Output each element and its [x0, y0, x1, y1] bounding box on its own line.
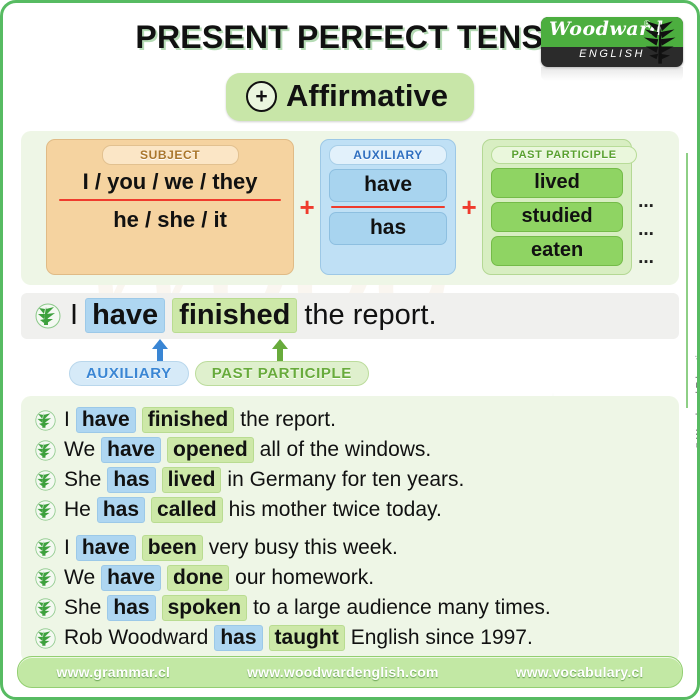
- structure-column-auxiliary: AUXILIARY have has: [320, 139, 456, 275]
- tag-auxiliary: AUXILIARY: [69, 361, 189, 386]
- sentence-auxiliary: has: [107, 467, 155, 493]
- example-sentence-band: I have finished the report.: [21, 293, 679, 339]
- woodward-logo: Woodward ® ENGLISH: [541, 17, 683, 67]
- list-item: She has lived in Germany for ten years.: [35, 465, 665, 495]
- sentence-subject: We: [64, 438, 95, 462]
- operator-plus-subject-aux: +: [294, 139, 320, 275]
- sentence-remainder: all of the windows.: [260, 438, 432, 462]
- fern-check-icon: [35, 303, 61, 329]
- plus-circle-icon: +: [246, 81, 277, 112]
- sentence-participle: taught: [269, 625, 345, 651]
- structure-column-subject: SUBJECT I / you / we / they he / she / i…: [46, 139, 294, 275]
- subject-heading: SUBJECT: [102, 145, 239, 165]
- fern-check-icon: [35, 628, 56, 649]
- sentence-text: We have done our homework.: [64, 565, 374, 591]
- sentence-text: I have finished the report.: [64, 407, 336, 433]
- subject-row-plural: I / you / we / they: [55, 165, 285, 198]
- callout-tags: AUXILIARY PAST PARTICIPLE: [21, 361, 679, 386]
- footer-link-woodwardenglish[interactable]: www.woodwardenglish.com: [247, 664, 439, 680]
- side-rule-divider: [686, 153, 688, 408]
- participle-chip-eaten: eaten: [491, 236, 623, 266]
- fern-check-icon: [35, 440, 56, 461]
- sentence-participle: spoken: [162, 595, 248, 621]
- list-item: She has spoken to a large audience many …: [35, 593, 665, 623]
- callout-arrows: [21, 339, 679, 361]
- auxiliary-have-chip: have: [329, 169, 447, 202]
- ellipsis-2: ...: [638, 220, 654, 239]
- fern-check-icon: [35, 568, 56, 589]
- list-item: I have been very busy this week.: [35, 533, 665, 563]
- footer-bar: www.grammar.cl www.woodwardenglish.com w…: [17, 656, 683, 688]
- list-item: I have finished the report.: [35, 405, 665, 435]
- sentence-remainder: in Germany for ten years.: [227, 468, 464, 492]
- sentence-remainder: our homework.: [235, 566, 374, 590]
- participle-chip-lived: lived: [491, 168, 623, 198]
- subject-divider: [59, 199, 281, 201]
- sentence-subject: Rob Woodward: [64, 626, 208, 650]
- sentence-auxiliary: have: [101, 437, 161, 463]
- sentence-remainder: the report.: [240, 408, 336, 432]
- list-item: Rob Woodward has taught English since 19…: [35, 623, 665, 653]
- sentence-subject: He: [64, 498, 91, 522]
- auxiliary-has-chip: has: [329, 212, 447, 245]
- sentence-text: Rob Woodward has taught English since 19…: [64, 625, 533, 651]
- sentence-subject: She: [64, 468, 101, 492]
- example-remainder: the report.: [304, 299, 436, 332]
- sentence-auxiliary: have: [101, 565, 161, 591]
- auxiliary-divider: [331, 206, 445, 208]
- past-participle-heading: PAST PARTICIPLE: [491, 146, 637, 164]
- sentence-auxiliary: has: [214, 625, 262, 651]
- sentence-remainder: his mother twice today.: [229, 498, 442, 522]
- subject-row-singular: he / she / it: [55, 203, 285, 236]
- infographic-poster: Woodward PRESENT PERFECT TENSE Woodward …: [0, 0, 700, 700]
- footer-link-vocabulary[interactable]: www.vocabulary.cl: [516, 664, 644, 680]
- fern-check-icon: [35, 410, 56, 431]
- sentence-auxiliary: have: [76, 407, 136, 433]
- sentence-text: She has lived in Germany for ten years.: [64, 467, 464, 493]
- arrow-up-participle-icon: [271, 339, 289, 361]
- fern-logo-icon: [643, 19, 679, 65]
- sentence-participle: opened: [167, 437, 254, 463]
- list-item: We have opened all of the windows.: [35, 435, 665, 465]
- sentence-participle: done: [167, 565, 229, 591]
- sentence-auxiliary: have: [76, 535, 136, 561]
- example-participle: finished: [172, 298, 297, 333]
- list-group-separator: [35, 525, 665, 533]
- ellipsis-3: ...: [638, 248, 654, 267]
- sentence-subject: We: [64, 566, 95, 590]
- structure-row: SUBJECT I / you / we / they he / she / i…: [31, 139, 669, 275]
- ellipsis-1: ...: [638, 192, 654, 211]
- example-sentences-panel: I have finished the report. We have open…: [21, 396, 679, 663]
- sentence-remainder: very busy this week.: [209, 536, 398, 560]
- sentence-text: She has spoken to a large audience many …: [64, 595, 551, 621]
- sentence-participle: been: [142, 535, 203, 561]
- arrow-up-auxiliary-icon: [151, 339, 169, 361]
- participle-chip-studied: studied: [491, 202, 623, 232]
- affirmative-label: Affirmative: [286, 78, 448, 114]
- fern-check-icon: [35, 538, 56, 559]
- sentence-subject: I: [64, 408, 70, 432]
- sentence-participle: lived: [162, 467, 222, 493]
- sentence-auxiliary: has: [107, 595, 155, 621]
- structure-panel: SUBJECT I / you / we / they he / she / i…: [21, 131, 679, 285]
- sentence-text: I have been very busy this week.: [64, 535, 398, 561]
- sentence-remainder: to a large audience many times.: [253, 596, 551, 620]
- fern-check-icon: [35, 598, 56, 619]
- logo-reflection: [541, 67, 683, 81]
- sentence-subject: I: [64, 536, 70, 560]
- list-item: We have done our homework.: [35, 563, 665, 593]
- structure-column-past-participle: PAST PARTICIPLE lived studied eaten: [482, 139, 632, 275]
- tag-past-participle: PAST PARTICIPLE: [195, 361, 369, 386]
- auxiliary-heading: AUXILIARY: [329, 145, 447, 165]
- sentence-remainder: English since 1997.: [351, 626, 533, 650]
- fern-check-icon: [35, 470, 56, 491]
- operator-plus-aux-participle: +: [456, 139, 482, 275]
- sentence-participle: finished: [142, 407, 235, 433]
- copyright-notice: © Woodward Education: [695, 289, 700, 449]
- fern-check-icon: [35, 500, 56, 521]
- list-item: He has called his mother twice today.: [35, 495, 665, 525]
- footer-link-grammar[interactable]: www.grammar.cl: [57, 664, 171, 680]
- example-auxiliary: have: [85, 298, 165, 333]
- sentence-participle: called: [151, 497, 223, 523]
- sentence-auxiliary: has: [97, 497, 145, 523]
- affirmative-badge: + Affirmative: [226, 73, 474, 121]
- example-subject: I: [70, 299, 78, 332]
- poster-header: PRESENT PERFECT TENSE Woodward ® ENGLISH: [3, 3, 697, 71]
- example-sentence: I have finished the report.: [70, 298, 437, 333]
- sentence-text: He has called his mother twice today.: [64, 497, 442, 523]
- sentence-subject: She: [64, 596, 101, 620]
- sentence-text: We have opened all of the windows.: [64, 437, 431, 463]
